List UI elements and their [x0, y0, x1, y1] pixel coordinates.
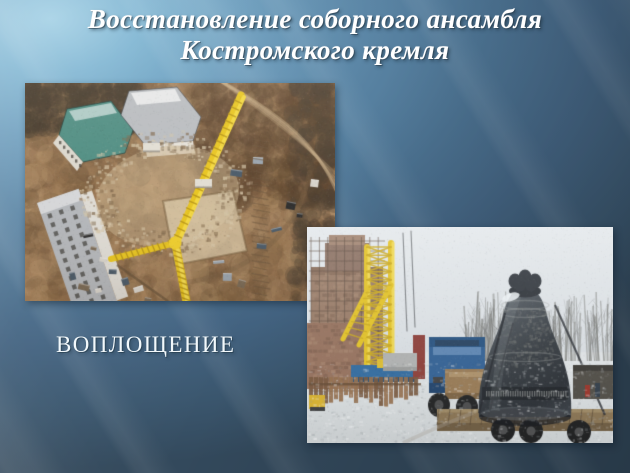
- slide-caption: ВОПЛОЩЕНИЕ: [56, 331, 235, 359]
- photo-aerial-construction-site: [25, 83, 335, 301]
- bell-on-trailer-image: [307, 227, 613, 443]
- slide-title: Восстановление соборного ансамбля Костро…: [0, 4, 630, 66]
- photo-bell-on-trailer: [307, 227, 613, 443]
- aerial-construction-site-image: [25, 83, 335, 301]
- presentation-slide: Восстановление соборного ансамбля Костро…: [0, 0, 630, 473]
